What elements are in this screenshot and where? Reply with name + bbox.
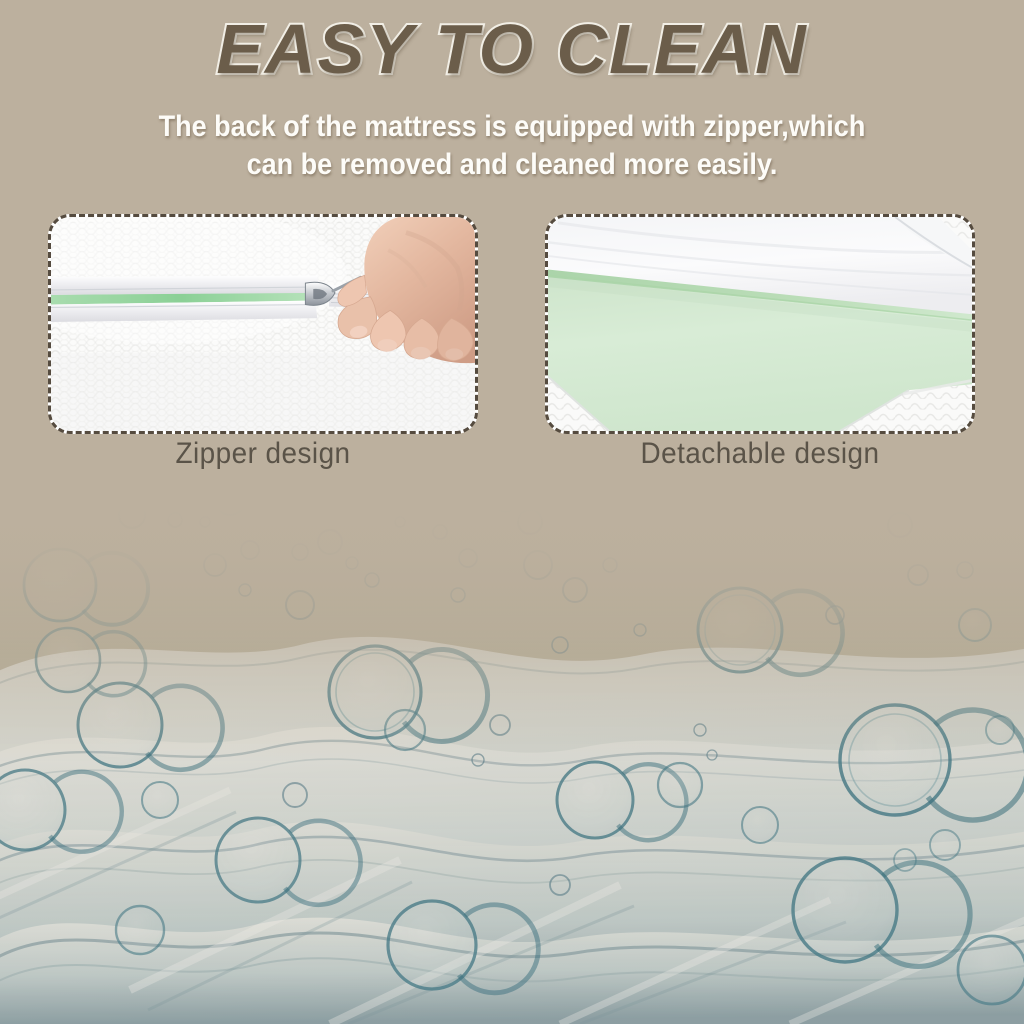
zipper-illustration [51, 217, 475, 431]
subtitle-block: The back of the mattress is equipped wit… [51, 108, 973, 185]
detachable-photo [548, 217, 972, 431]
panel-detachable-design [545, 214, 975, 434]
waves-bubbles-scene [0, 430, 1024, 1024]
caption-detachable-design: Detachable design [560, 437, 960, 471]
scene-svg [0, 430, 1024, 1024]
detachable-illustration [548, 217, 972, 431]
subtitle-line-1: The back of the mattress is equipped wit… [51, 108, 973, 146]
caption-zipper-design: Zipper design [63, 437, 463, 471]
poster-root: EASY TO CLEAN The back of the mattress i… [0, 0, 1024, 1024]
panel-zipper-design [48, 214, 478, 434]
page-title: EASY TO CLEAN [216, 14, 807, 84]
subtitle-line-2: can be removed and cleaned more easily. [51, 146, 973, 184]
zipper-photo [51, 217, 475, 431]
title-block: EASY TO CLEAN [0, 14, 1024, 84]
